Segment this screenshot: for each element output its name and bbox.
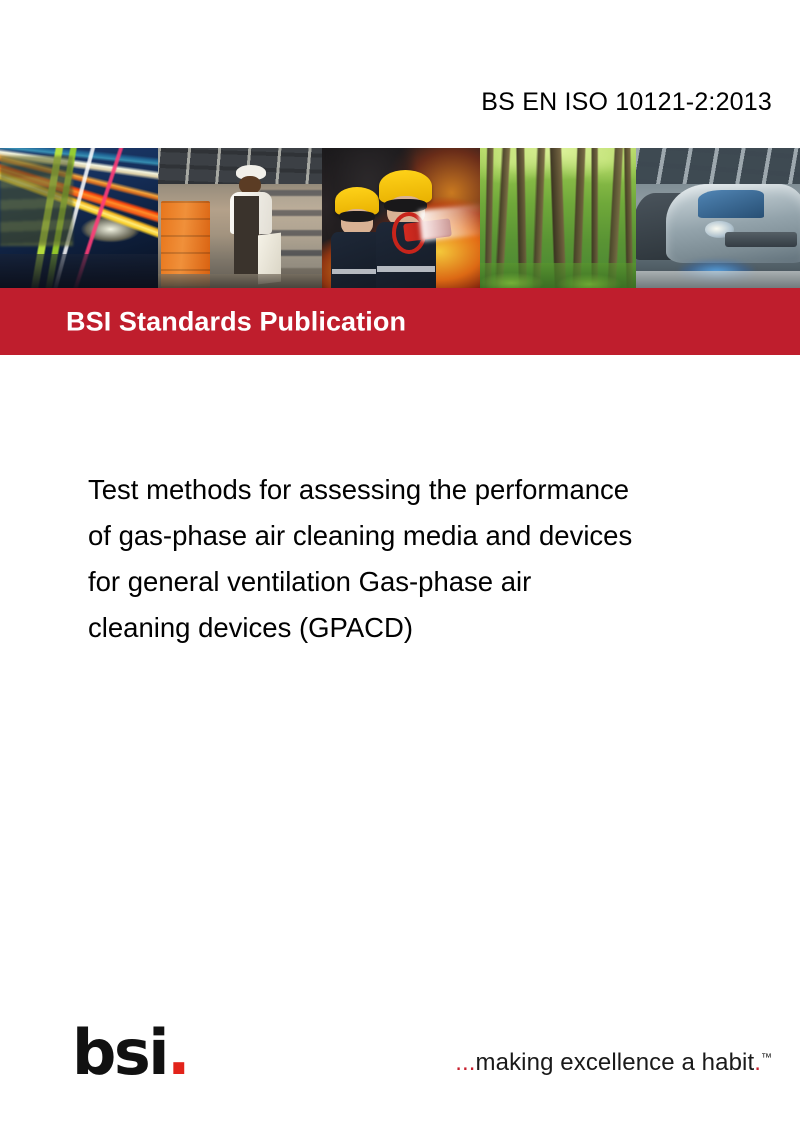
bsi-tagline: ...making excellence a habit.™ bbox=[455, 1049, 772, 1077]
title-line-1: Test methods for assessing the performan… bbox=[88, 467, 748, 513]
reflective-stripe bbox=[332, 269, 381, 274]
tagline-period: . bbox=[754, 1049, 761, 1076]
publisher-banner-label: BSI Standards Publication bbox=[66, 306, 406, 337]
tagline-ellipsis: ... bbox=[455, 1049, 475, 1076]
standard-number: BS EN ISO 10121-2:2013 bbox=[481, 88, 772, 117]
water-spray bbox=[419, 203, 480, 241]
publisher-red-band: BSI Standards Publication bbox=[0, 288, 800, 355]
cover-banner: BSI Standards Publication bbox=[0, 148, 800, 355]
banner-photo-night-traffic-light-trails bbox=[0, 148, 158, 288]
banner-photo-warehouse-worker bbox=[158, 148, 322, 288]
worker-apron bbox=[234, 196, 260, 275]
title-line-4: cleaning devices (GPACD) bbox=[88, 605, 748, 651]
banner-photo-forest bbox=[480, 148, 636, 288]
car-windshield bbox=[698, 190, 764, 218]
trademark-icon: ™ bbox=[761, 1052, 772, 1064]
bsi-logo-wordmark: bsi bbox=[72, 1016, 167, 1089]
document-cover-page: BS EN ISO 10121-2:2013 bbox=[0, 0, 800, 1132]
title-line-3: for general ventilation Gas-phase air bbox=[88, 559, 748, 605]
banner-photo-car-assembly-line bbox=[636, 148, 800, 288]
road-surface bbox=[0, 254, 158, 288]
firefighter-rear bbox=[331, 187, 382, 288]
safety-goggles-icon bbox=[339, 211, 375, 222]
warehouse-worker-figure bbox=[227, 165, 276, 288]
cover-footer: bsi. ...making excellence a habit.™ bbox=[0, 982, 800, 1132]
photo-strip bbox=[0, 148, 800, 288]
page-title: Test methods for assessing the performan… bbox=[88, 467, 748, 651]
assembly-line-floor bbox=[636, 271, 800, 288]
firefighter-coat bbox=[331, 232, 382, 288]
banner-photo-firefighters bbox=[322, 148, 480, 288]
bsi-logo: bsi. bbox=[72, 1022, 188, 1084]
car-grille bbox=[725, 232, 797, 247]
factory-ceiling-lights bbox=[636, 148, 800, 184]
bsi-logo-dot: . bbox=[167, 1016, 188, 1089]
warehouse-floor bbox=[158, 274, 322, 288]
building-facade bbox=[0, 156, 73, 246]
title-line-2: of gas-phase air cleaning media and devi… bbox=[88, 513, 748, 559]
forest-floor bbox=[480, 263, 636, 288]
reflective-stripe bbox=[377, 266, 435, 272]
tagline-text: making excellence a habit bbox=[476, 1049, 755, 1076]
